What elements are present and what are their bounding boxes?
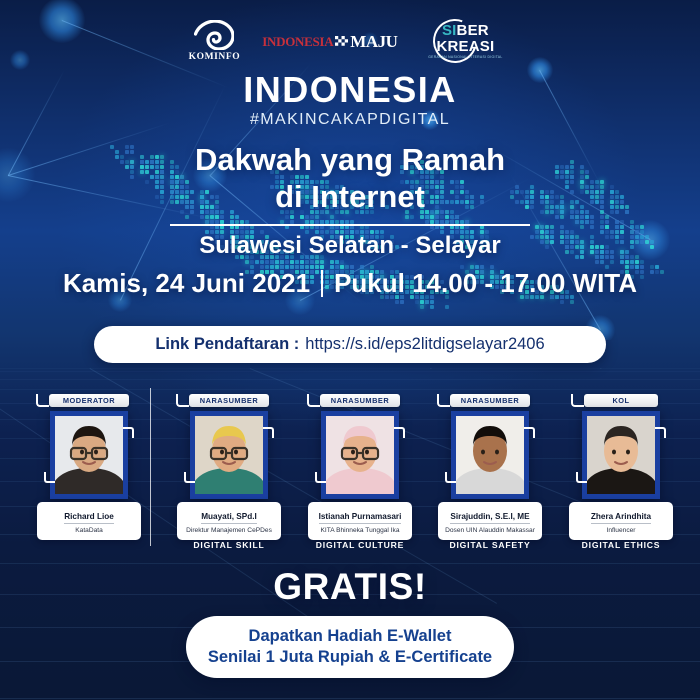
map-dot: [200, 215, 204, 219]
map-dot: [615, 225, 619, 229]
map-dot: [590, 225, 594, 229]
map-dot: [635, 260, 639, 264]
map-dot: [300, 215, 304, 219]
map-dot: [545, 225, 549, 229]
registration-link-pill[interactable]: Link Pendaftaran : https://s.id/eps2litd…: [94, 326, 606, 363]
frame-corner-bracket-top-right: [394, 427, 405, 438]
map-dot: [535, 225, 539, 229]
logo-bar: KOMINFO INDONESIA MAJU SIBER KREASI GERA…: [0, 12, 700, 70]
frame-corner-bracket-bottom-left: [44, 472, 55, 483]
event-date: Kamis, 24 Juni 2021: [63, 268, 310, 299]
speaker-role-label: NARASUMBER: [331, 396, 389, 405]
speaker-nameplate: Richard LioeKataData: [37, 502, 141, 540]
registration-label: Link Pendaftaran :: [155, 335, 299, 354]
map-dot: [430, 300, 434, 304]
page-title-line1: Dakwah yang Ramah: [0, 142, 700, 179]
siber-kreasi-line2: KREASI: [436, 39, 494, 54]
speaker-org: Direktur Manajemen CePDes: [179, 527, 279, 535]
map-dot: [585, 215, 589, 219]
indonesia-maju-part1: INDONESIA: [262, 34, 333, 50]
map-dot: [305, 215, 309, 219]
speaker-org: Dosen UIN Alauddin Makassar: [440, 527, 540, 535]
kominfo-mark-icon: [194, 20, 234, 50]
map-dot: [600, 220, 604, 224]
map-dot: [560, 215, 564, 219]
siber-kreasi-line1-a: SI: [442, 22, 457, 39]
speaker-card: KOLZhera ArindhitaInfluencerDIGITAL ETHI…: [560, 394, 682, 540]
map-dot: [285, 215, 289, 219]
grid-horizontal-line: [0, 389, 700, 390]
map-dot: [620, 220, 624, 224]
speaker-pillar: DIGITAL SAFETY: [429, 540, 551, 550]
map-dot: [260, 260, 264, 264]
speaker-pillar: DIGITAL CULTURE: [299, 540, 421, 550]
speaker-photo-frame: [50, 411, 128, 499]
speaker-photo-frame: [582, 411, 660, 499]
prize-line2: Senilai 1 Juta Rupiah & E-Certificate: [208, 649, 492, 666]
map-dot: [205, 215, 209, 219]
map-dot: [630, 220, 634, 224]
speaker-photo: [587, 416, 655, 494]
program-name: INDONESIA: [0, 72, 700, 108]
speaker-nameplate: Istianah PurnamasariKITA Bhinneka Tungga…: [308, 502, 412, 540]
map-dot: [600, 260, 604, 264]
map-dot: [615, 220, 619, 224]
grid-horizontal-line: [0, 371, 700, 372]
speaker-nameplate: Muayati, SPd.IDirektur Manajemen CePDes: [177, 502, 281, 540]
map-dot: [255, 260, 259, 264]
datetime-separator: [321, 270, 323, 297]
speaker-role-badge: NARASUMBER: [450, 394, 530, 407]
speaker-name: Sirajuddin, S.E.I, ME: [450, 512, 529, 524]
frame-corner-bracket-bottom-left: [315, 472, 326, 483]
map-dot: [440, 215, 444, 219]
indonesia-maju-logo: INDONESIA MAJU: [262, 32, 397, 52]
map-dot: [640, 225, 644, 229]
map-dot: [330, 260, 334, 264]
frame-corner-bracket-bottom-left: [576, 472, 587, 483]
speaker-photo-frame: [190, 411, 268, 499]
map-dot: [555, 215, 559, 219]
event-time: Pukul 14.00 - 17.00 WITA: [334, 268, 637, 299]
grid-horizontal-line: [0, 698, 700, 699]
prize-line1: Dapatkan Hadiah E-Wallet: [249, 628, 452, 645]
map-dot: [275, 260, 279, 264]
speaker-name: Muayati, SPd.I: [201, 512, 257, 524]
prize-pill: Dapatkan Hadiah E-Wallet Senilai 1 Juta …: [186, 616, 514, 678]
frame-corner-bracket-bottom-left: [184, 472, 195, 483]
speaker-portrait-illustration: [587, 416, 655, 494]
badge-connector: [437, 394, 450, 407]
frame-corner-bracket-top-right: [655, 427, 666, 438]
page-title-line2: di Internet: [0, 179, 700, 216]
speakers-divider-line: [150, 388, 151, 546]
speaker-photo: [195, 416, 263, 494]
map-dot: [270, 260, 274, 264]
badge-connector: [36, 394, 49, 407]
map-dot: [320, 260, 324, 264]
map-dot: [410, 215, 414, 219]
map-dot: [570, 300, 574, 304]
siber-kreasi-line1-b: BER: [457, 22, 489, 39]
indonesia-maju-part2: MAJU: [350, 32, 397, 52]
map-dot: [265, 260, 269, 264]
map-dot: [185, 215, 189, 219]
speaker-photo: [55, 416, 123, 494]
speaker-nameplate: Zhera ArindhitaInfluencer: [569, 502, 673, 540]
webinar-poster: KOMINFO INDONESIA MAJU SIBER KREASI GERA…: [0, 0, 700, 700]
map-dot: [620, 260, 624, 264]
map-dot: [640, 260, 644, 264]
speaker-role-label: NARASUMBER: [461, 396, 519, 405]
frame-corner-bracket-top-right: [263, 427, 274, 438]
map-dot: [315, 215, 319, 219]
map-dot: [340, 260, 344, 264]
map-dot: [600, 215, 604, 219]
grid-horizontal-line: [0, 563, 700, 564]
map-dot: [295, 260, 299, 264]
speaker-org: Influencer: [571, 527, 671, 535]
map-dot: [290, 260, 294, 264]
map-dot: [315, 260, 319, 264]
speaker-nameplate: Sirajuddin, S.E.I, MEDosen UIN Alauddin …: [438, 502, 542, 540]
speaker-name: Zhera Arindhita: [591, 512, 651, 524]
registration-url[interactable]: https://s.id/eps2litdigselayar2406: [305, 335, 544, 354]
speaker-pillar: DIGITAL ETHICS: [560, 540, 682, 550]
campaign-hashtag: #MAKINCAKAPDIGITAL: [0, 111, 700, 129]
map-dot: [570, 215, 574, 219]
speaker-role-badge: KOL: [584, 394, 658, 407]
map-dot: [235, 215, 239, 219]
map-dot: [425, 215, 429, 219]
map-dot: [300, 260, 304, 264]
map-dot: [610, 260, 614, 264]
map-dot: [575, 215, 579, 219]
map-dot: [280, 260, 284, 264]
siber-kreasi-tagline: GERAKAN NASIONAL LITERASI DIGITAL: [428, 55, 502, 59]
map-dot: [445, 305, 449, 309]
siber-kreasi-logo: SIBER KREASI GERAKAN NASIONAL LITERASI D…: [419, 18, 511, 64]
map-dot: [585, 220, 589, 224]
map-dot: [420, 215, 424, 219]
title-divider: [170, 224, 530, 226]
map-dot: [420, 300, 424, 304]
map-dot: [620, 225, 624, 229]
event-datetime: Kamis, 24 Juni 2021 Pukul 14.00 - 17.00 …: [0, 268, 700, 299]
speaker-card: MODERATORRichard LioeKataData: [28, 394, 150, 540]
speaker-photo: [326, 416, 394, 494]
speaker-name: Istianah Purnamasari: [319, 512, 402, 524]
badge-connector: [307, 394, 320, 407]
map-dot: [425, 300, 429, 304]
speaker-org: KataData: [39, 527, 139, 535]
map-dot: [420, 305, 424, 309]
speaker-org: KITA Bhinneka Tunggal Ika: [310, 527, 410, 535]
map-dot: [215, 215, 219, 219]
speaker-portrait-illustration: [326, 416, 394, 494]
map-dot: [550, 225, 554, 229]
speaker-portrait-illustration: [456, 416, 524, 494]
kominfo-logo-text: KOMINFO: [189, 52, 241, 62]
map-dot: [595, 260, 599, 264]
map-dot: [220, 215, 224, 219]
map-dot: [605, 220, 609, 224]
map-dot: [450, 215, 454, 219]
speaker-role-label: KOL: [612, 396, 629, 405]
speaker-photo: [456, 416, 524, 494]
map-dot: [575, 220, 579, 224]
map-dot: [310, 215, 314, 219]
grid-horizontal-line: [0, 379, 700, 380]
map-dot: [560, 300, 564, 304]
map-dot: [605, 215, 609, 219]
map-dot: [405, 215, 409, 219]
map-dot: [590, 220, 594, 224]
map-dot: [335, 260, 339, 264]
speaker-pillar: DIGITAL SKILL: [168, 540, 290, 550]
map-dot: [580, 225, 584, 229]
map-dot: [580, 220, 584, 224]
map-dot: [630, 260, 634, 264]
kominfo-logo: KOMINFO: [189, 20, 241, 62]
map-dot: [560, 225, 564, 229]
speaker-role-label: MODERATOR: [63, 396, 115, 405]
map-dot: [435, 215, 439, 219]
speaker-photo-frame: [451, 411, 529, 499]
map-dot: [455, 215, 459, 219]
map-dot: [540, 225, 544, 229]
speaker-card: NARASUMBERSirajuddin, S.E.I, MEDosen UIN…: [429, 394, 551, 540]
map-dot: [635, 225, 639, 229]
speaker-portrait-illustration: [195, 416, 263, 494]
speaker-name: Richard Lioe: [64, 512, 114, 524]
map-dot: [430, 215, 434, 219]
map-dot: [395, 300, 399, 304]
map-dot: [580, 215, 584, 219]
map-dot: [430, 305, 434, 309]
speakers-row: MODERATORRichard LioeKataDataNARASUMBERM…: [0, 394, 700, 554]
map-dot: [400, 300, 404, 304]
frame-corner-bracket-top-right: [123, 427, 134, 438]
badge-connector: [176, 394, 189, 407]
speaker-card: NARASUMBERMuayati, SPd.IDirektur Manajem…: [168, 394, 290, 540]
speaker-portrait-illustration: [55, 416, 123, 494]
speaker-role-badge: NARASUMBER: [189, 394, 269, 407]
map-dot: [630, 225, 634, 229]
map-dot: [625, 260, 629, 264]
frame-corner-bracket-top-right: [524, 427, 535, 438]
map-dot: [290, 215, 294, 219]
map-dot: [250, 260, 254, 264]
speaker-role-label: NARASUMBER: [200, 396, 258, 405]
badge-connector: [571, 394, 584, 407]
map-dot: [330, 215, 334, 219]
map-dot: [415, 300, 419, 304]
map-dot: [590, 215, 594, 219]
speaker-role-badge: MODERATOR: [49, 394, 129, 407]
frame-corner-bracket-bottom-left: [445, 472, 456, 483]
map-dot: [210, 215, 214, 219]
free-label: GRATIS!: [0, 566, 700, 608]
headline-block: INDONESIA #MAKINCAKAPDIGITAL Dakwah yang…: [0, 72, 700, 215]
map-dot: [600, 225, 604, 229]
map-dot: [310, 260, 314, 264]
map-dot: [445, 215, 449, 219]
map-dot: [605, 225, 609, 229]
page-title: Dakwah yang Ramah di Internet: [0, 142, 700, 215]
speaker-photo-frame: [321, 411, 399, 499]
speaker-card: NARASUMBERIstianah PurnamasariKITA Bhinn…: [299, 394, 421, 540]
map-dot: [305, 260, 309, 264]
map-dot: [230, 215, 234, 219]
speaker-role-badge: NARASUMBER: [320, 394, 400, 407]
map-dot: [285, 260, 289, 264]
grid-horizontal-line: [0, 368, 700, 369]
checkered-flag-icon: [335, 36, 348, 49]
event-location: Sulawesi Selatan - Selayar: [0, 232, 700, 260]
siber-kreasi-line1: SIBER: [442, 23, 489, 38]
map-dot: [245, 260, 249, 264]
